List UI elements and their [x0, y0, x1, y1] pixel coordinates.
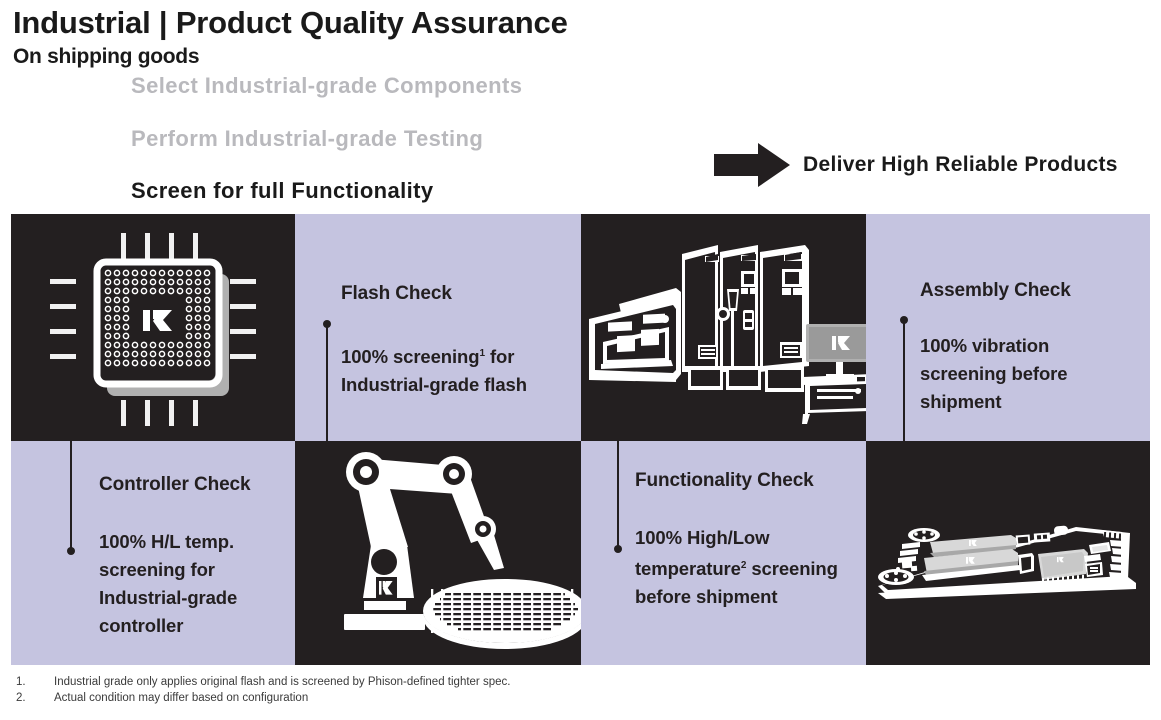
- connector-line: [617, 441, 619, 549]
- process-step-screen-functionality: Screen for full Functionality: [131, 178, 434, 204]
- cell-functionality-check: Functionality Check 100% High/Low temper…: [581, 441, 866, 665]
- deliver-label: Deliver High Reliable Products: [803, 153, 1118, 177]
- cell-test-equipment-illustration: [581, 214, 866, 441]
- connector-dot: [67, 547, 75, 555]
- qa-process-grid: Flash Check 100% screening1 for Industri…: [11, 214, 1150, 665]
- flash-check-heading: Flash Check: [341, 283, 452, 305]
- footnote-text: Actual condition may differ based on con…: [54, 690, 916, 706]
- cell-controller-check: Controller Check 100% H/L temp. screenin…: [11, 441, 295, 665]
- cell-chip-illustration: [11, 214, 295, 441]
- connector-line: [326, 324, 328, 441]
- header: Industrial | Product Quality Assurance O…: [0, 0, 1161, 214]
- robot-arm-wafer-icon: [295, 441, 581, 665]
- functionality-check-body: 100% High/Low temperature2 screening bef…: [635, 524, 865, 611]
- connector-dot: [323, 320, 331, 328]
- deliver-banner: Deliver High Reliable Products: [714, 143, 1118, 187]
- process-step-select-components: Select Industrial-grade Components: [131, 73, 522, 99]
- connector-line: [70, 441, 72, 551]
- assembly-check-body: 100% vibration screening before shipment: [920, 332, 1140, 416]
- controller-check-heading: Controller Check: [99, 474, 251, 496]
- connector-dot: [900, 316, 908, 324]
- footnote-number: 2.: [16, 690, 54, 706]
- flash-check-body-main: 100% screening: [341, 346, 479, 367]
- footnotes: 1. Industrial grade only applies origina…: [16, 674, 916, 706]
- connector-line: [903, 320, 905, 441]
- cell-pcb-illustration: [866, 441, 1150, 665]
- bga-chip-icon: [11, 214, 295, 441]
- footnote-number: 1.: [16, 674, 54, 690]
- page-subtitle: On shipping goods: [13, 45, 199, 69]
- footnote-text: Industrial grade only applies original f…: [54, 674, 916, 690]
- page-title: Industrial | Product Quality Assurance: [13, 5, 568, 41]
- right-arrow-icon: [714, 143, 790, 187]
- assembly-check-heading: Assembly Check: [920, 280, 1071, 302]
- test-equipment-rack-icon: [581, 214, 866, 441]
- functionality-check-heading: Functionality Check: [635, 470, 814, 492]
- footnote-item: 2. Actual condition may differ based on …: [16, 690, 916, 706]
- cell-flash-check: Flash Check 100% screening1 for Industri…: [295, 214, 581, 441]
- footnote-item: 1. Industrial grade only applies origina…: [16, 674, 916, 690]
- cell-robot-arm-illustration: [295, 441, 581, 665]
- cell-assembly-check: Assembly Check 100% vibration screening …: [866, 214, 1150, 441]
- flash-check-body: 100% screening1 for Industrial-grade fla…: [341, 340, 571, 399]
- pcb-board-icon: [866, 441, 1150, 665]
- process-step-perform-testing: Perform Industrial-grade Testing: [131, 126, 483, 152]
- controller-check-body: 100% H/L temp. screening for Industrial-…: [99, 528, 295, 640]
- connector-dot: [614, 545, 622, 553]
